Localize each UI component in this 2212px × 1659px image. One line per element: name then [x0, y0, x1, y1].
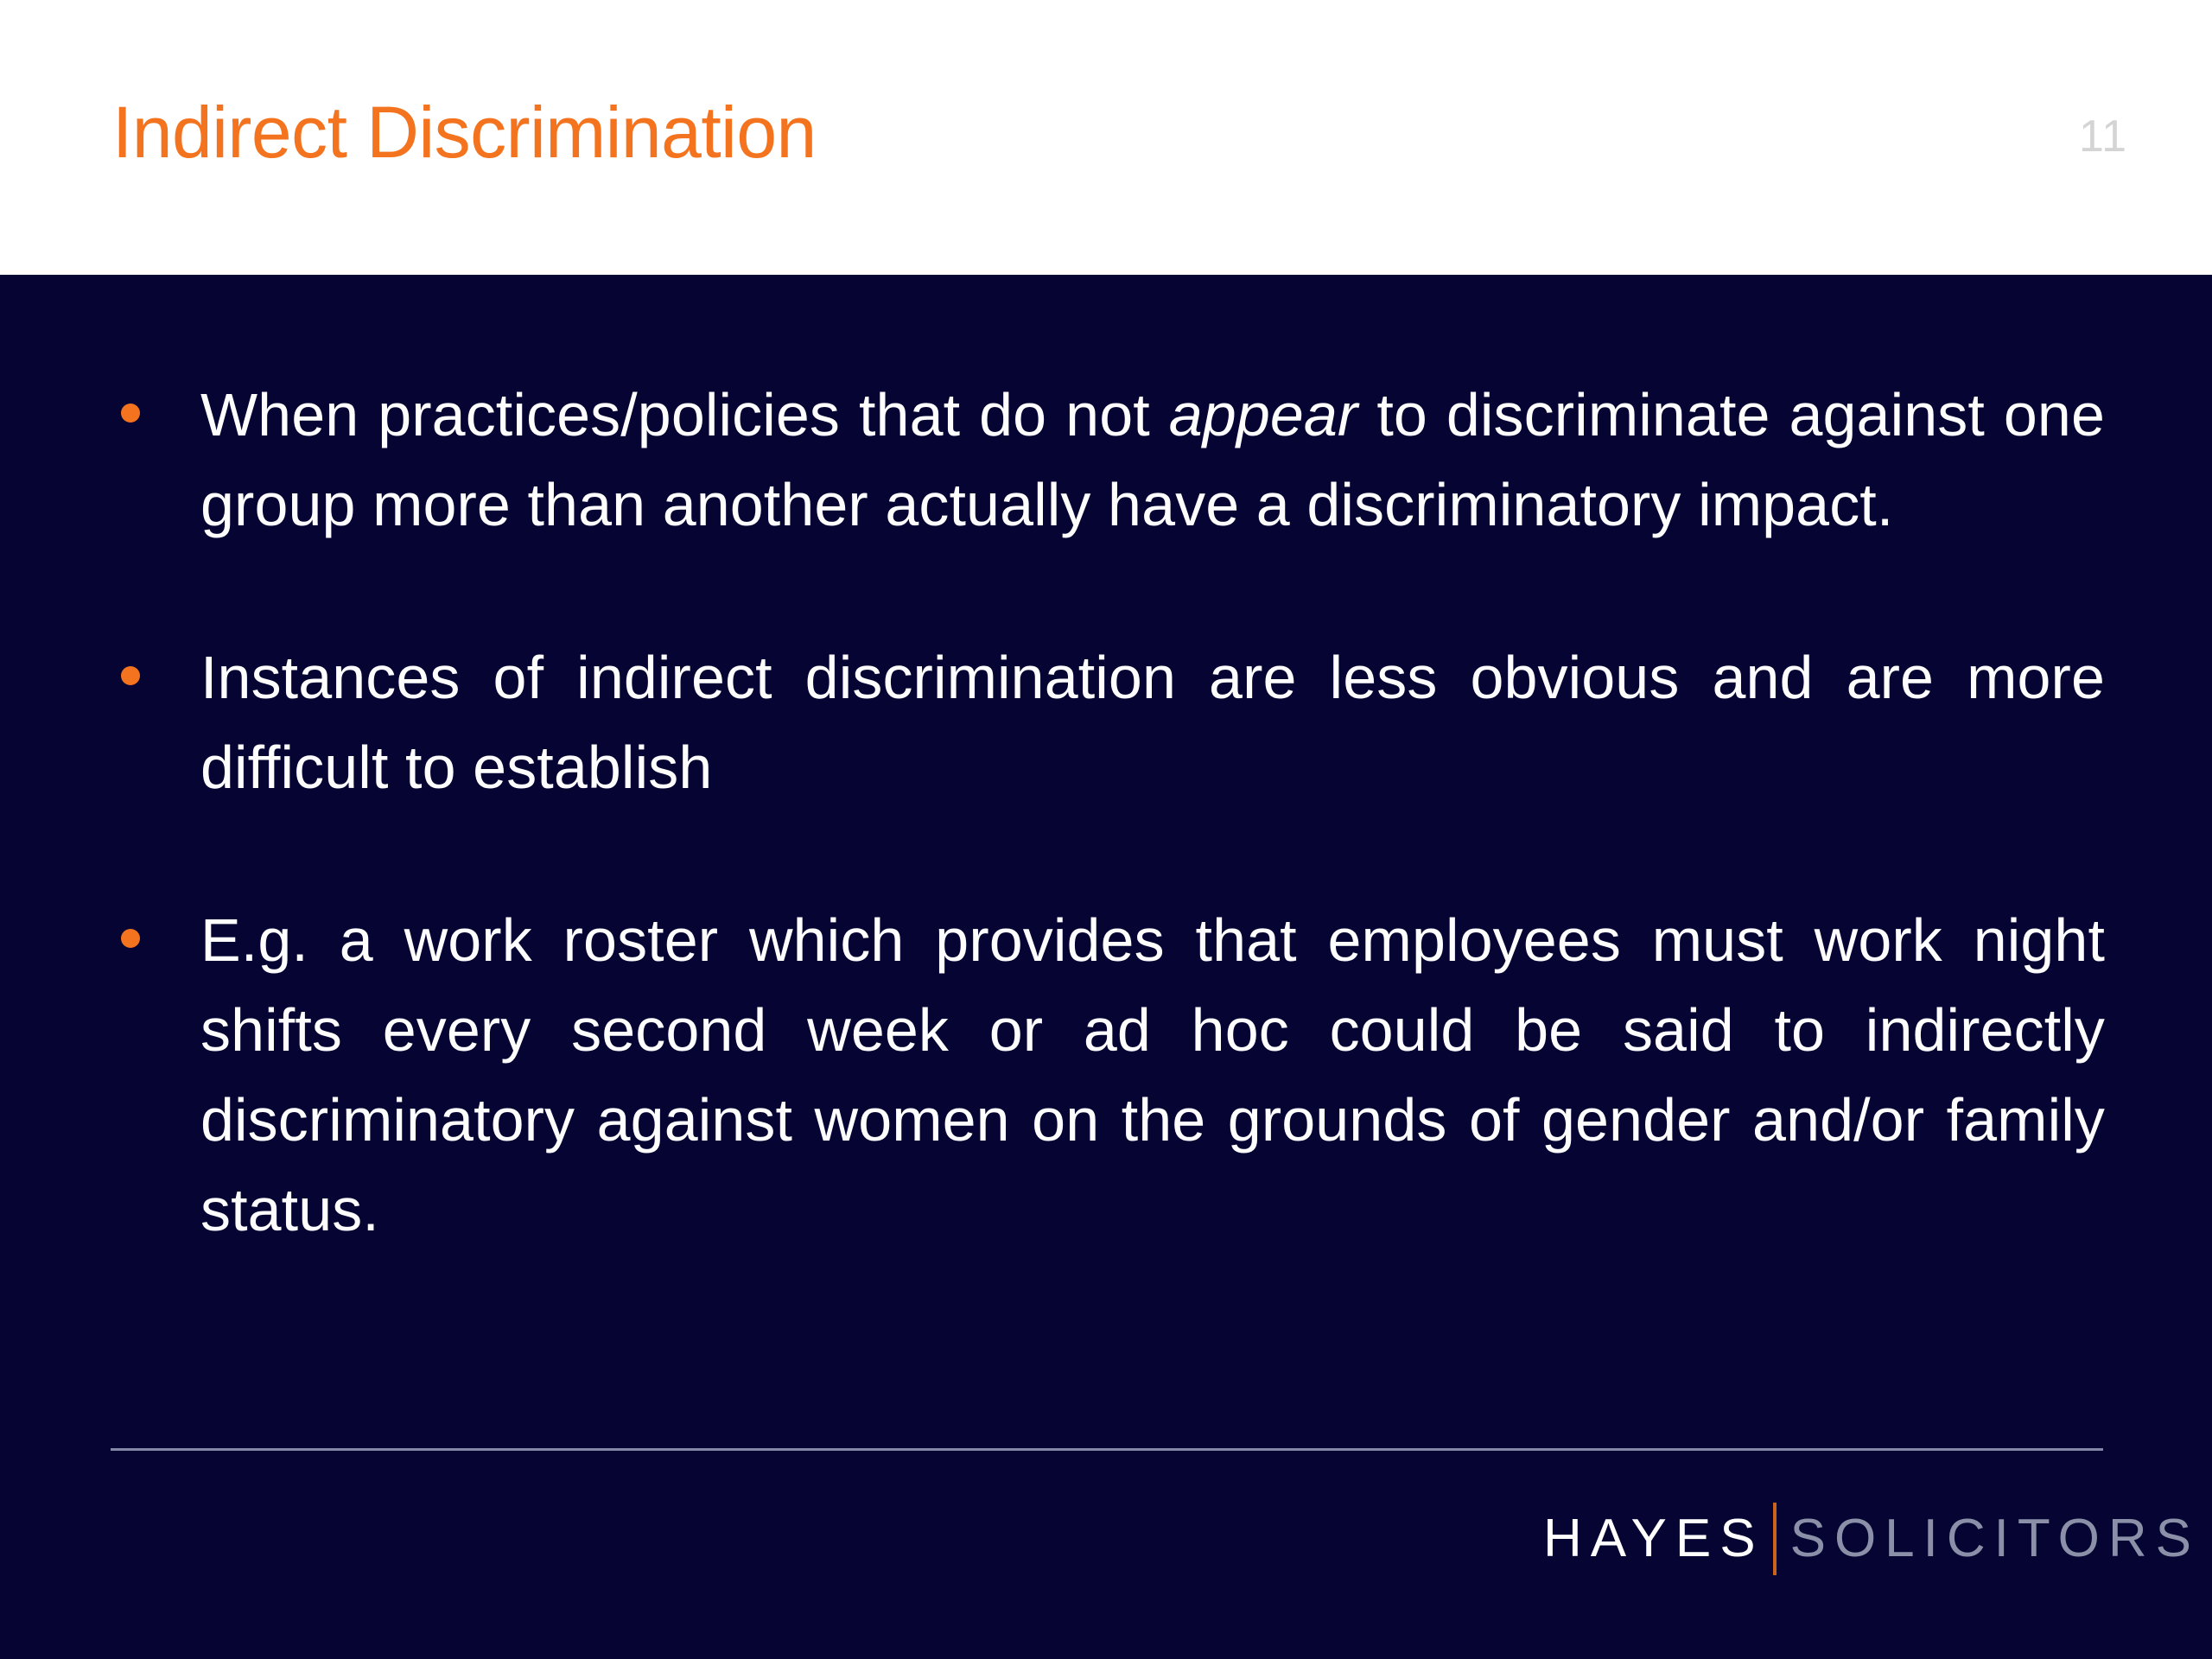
bullet-dot-icon: [121, 404, 140, 423]
bullet-text-3: E.g. a work roster which provides that e…: [200, 895, 2105, 1255]
slide-body: When practices/policies that do not appe…: [0, 275, 2212, 1659]
slide-page-number: 11: [2079, 111, 2127, 162]
logo-separator-bar: [1773, 1503, 1777, 1575]
list-item: When practices/policies that do not appe…: [111, 370, 2105, 550]
list-item: E.g. a work roster which provides that e…: [111, 895, 2105, 1255]
bullet-1-emphasis: appear: [1169, 381, 1358, 448]
brand-logo: HAYES SOLICITORS: [1543, 1500, 2200, 1578]
bullet-1-pre: When practices/policies that do not: [200, 381, 1169, 448]
logo-secondary-text: SOLICITORS: [1790, 1509, 2200, 1569]
bullet-dot-icon: [121, 929, 140, 948]
bullet-text-2: Instances of indirect discrimination are…: [200, 632, 2105, 812]
bullet-list: When practices/policies that do not appe…: [111, 370, 2105, 1255]
logo-primary-text: HAYES: [1543, 1509, 1764, 1569]
footer-divider: [111, 1448, 2103, 1451]
bullet-dot-icon: [121, 666, 140, 685]
page-title: Indirect Discrimination: [112, 89, 817, 175]
presentation-slide: Indirect Discrimination 11 When practice…: [0, 0, 2212, 1659]
bullet-text-1: When practices/policies that do not appe…: [200, 370, 2105, 550]
list-item: Instances of indirect discrimination are…: [111, 632, 2105, 812]
slide-header: Indirect Discrimination 11: [0, 0, 2212, 275]
